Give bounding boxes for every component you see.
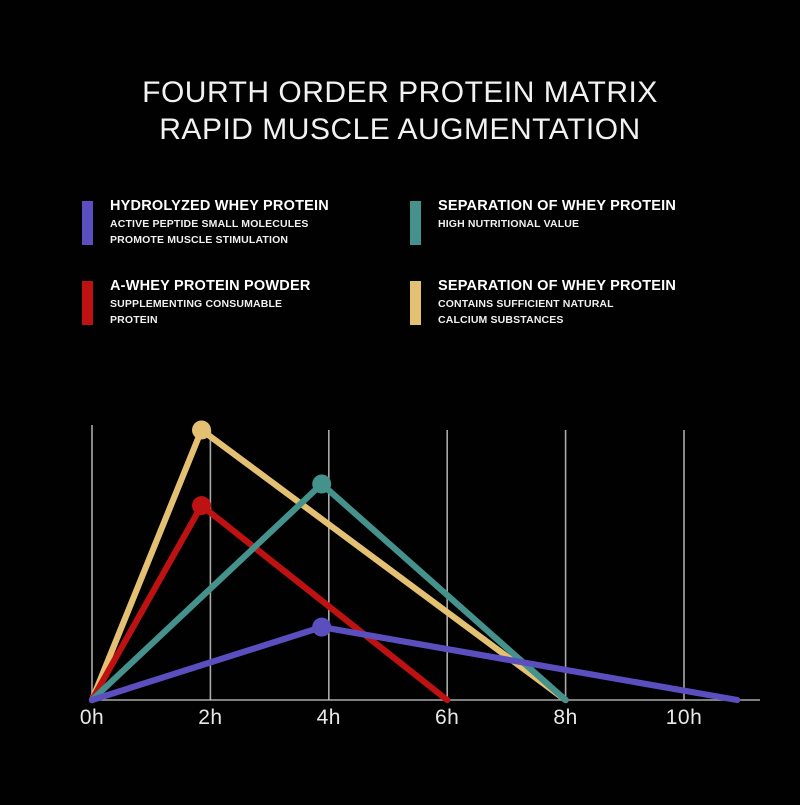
x-axis-tick-label: 2h bbox=[198, 706, 222, 730]
x-axis-tick-label: 6h bbox=[435, 706, 459, 730]
chart-svg bbox=[0, 0, 800, 800]
chart-data-point[interactable] bbox=[192, 496, 211, 515]
x-axis-tick-labels: 0h2h4h6h8h10h bbox=[0, 706, 800, 736]
x-axis-tick-label: 10h bbox=[666, 706, 703, 730]
chart-data-point[interactable] bbox=[312, 475, 331, 494]
chart-data-point[interactable] bbox=[312, 618, 331, 637]
x-axis-tick-label: 0h bbox=[80, 706, 104, 730]
chart-data-point[interactable] bbox=[192, 421, 211, 440]
poster-canvas: FOURTH ORDER PROTEIN MATRIX RAPID MUSCLE… bbox=[0, 0, 800, 800]
chart-series-line bbox=[92, 627, 737, 700]
line-chart: 0h2h4h6h8h10h bbox=[0, 0, 800, 800]
x-axis-tick-label: 4h bbox=[317, 706, 341, 730]
x-axis-tick-label: 8h bbox=[553, 706, 577, 730]
